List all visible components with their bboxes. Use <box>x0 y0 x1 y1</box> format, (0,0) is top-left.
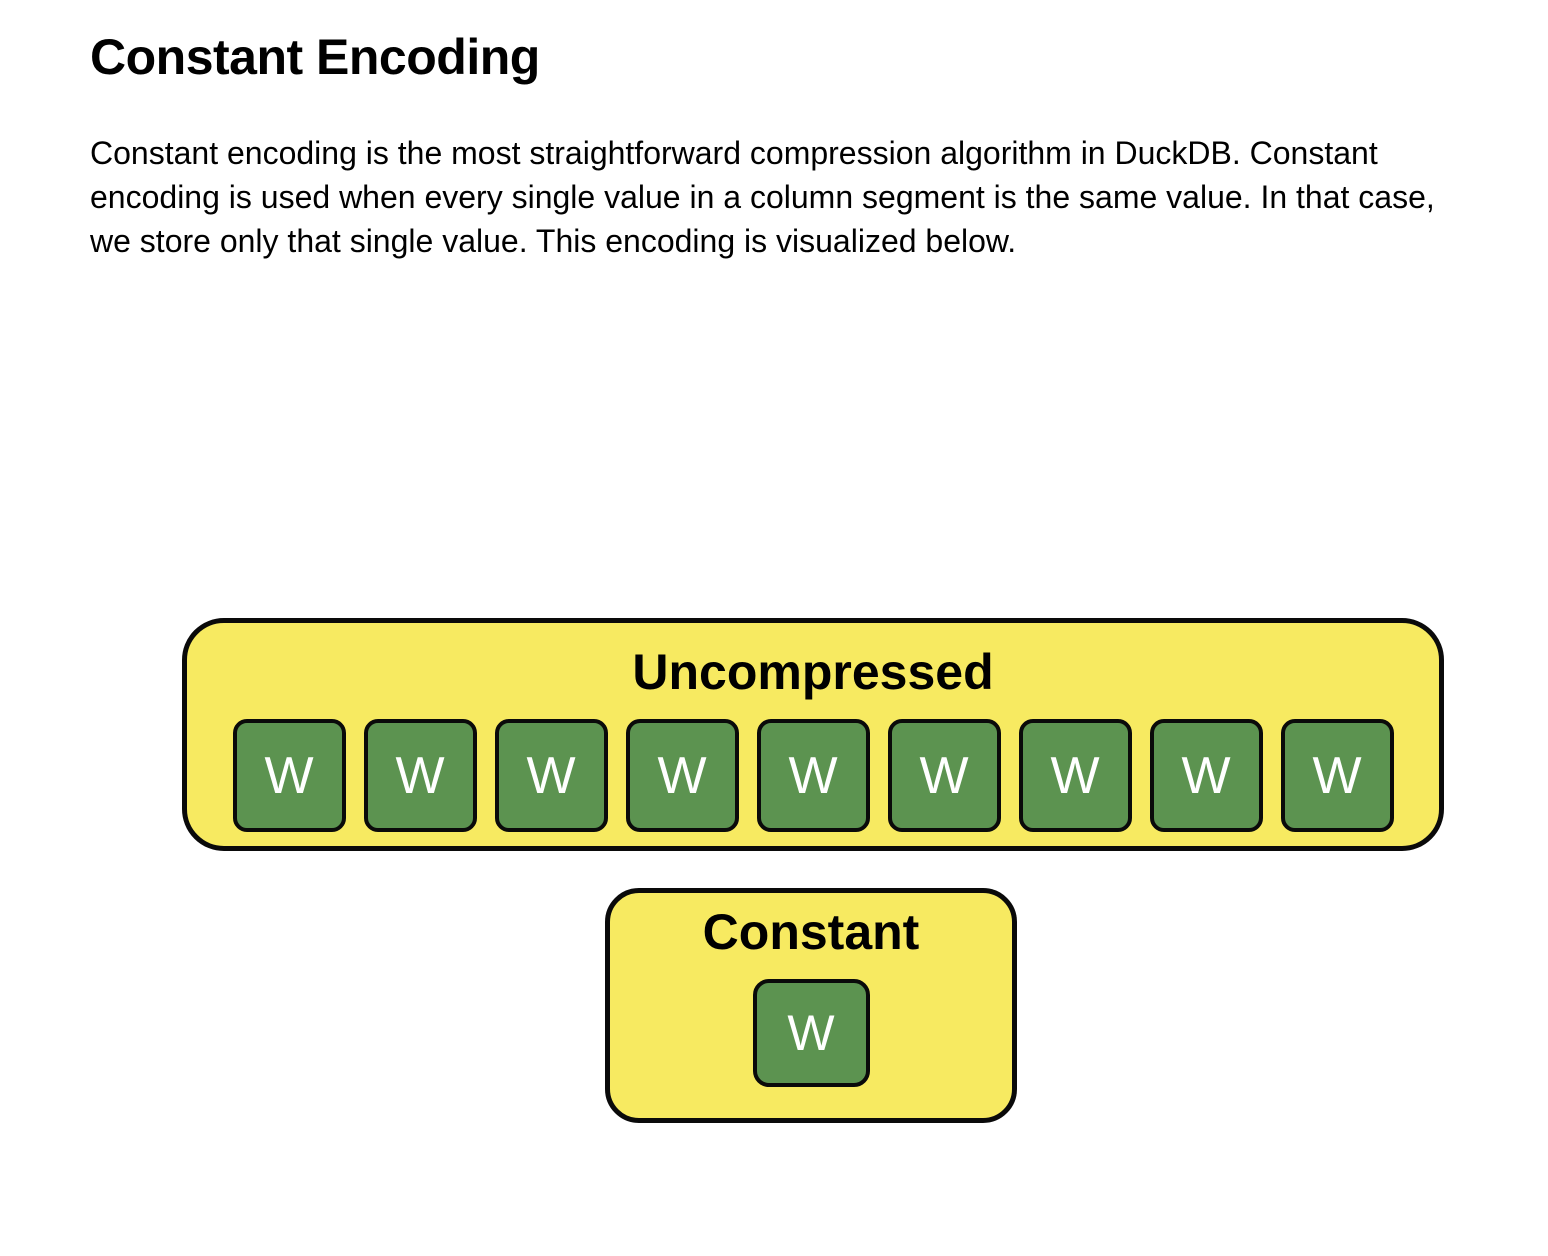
uncompressed-value-cell: W <box>1281 719 1394 832</box>
uncompressed-value-cell: W <box>1150 719 1263 832</box>
constant-cell-row: W <box>753 979 870 1087</box>
page-title: Constant Encoding <box>90 28 1450 87</box>
uncompressed-value-cell: W <box>233 719 346 832</box>
intro-paragraph: Constant encoding is the most straightfo… <box>90 131 1448 263</box>
constant-panel-title: Constant <box>703 907 920 957</box>
uncompressed-value-cell: W <box>364 719 477 832</box>
uncompressed-value-cell: W <box>495 719 608 832</box>
constant-value-cell: W <box>753 979 870 1087</box>
constant-panel: Constant W <box>605 888 1017 1123</box>
uncompressed-value-cell: W <box>626 719 739 832</box>
uncompressed-value-cell: W <box>1019 719 1132 832</box>
uncompressed-value-cell: W <box>757 719 870 832</box>
constant-encoding-diagram: Uncompressed WWWWWWWWW Constant W <box>0 600 1548 1160</box>
uncompressed-panel: Uncompressed WWWWWWWWW <box>182 618 1444 851</box>
article-content: Constant Encoding Constant encoding is t… <box>90 28 1450 263</box>
uncompressed-cell-row: WWWWWWWWW <box>233 719 1394 832</box>
uncompressed-value-cell: W <box>888 719 1001 832</box>
uncompressed-panel-title: Uncompressed <box>632 647 993 697</box>
